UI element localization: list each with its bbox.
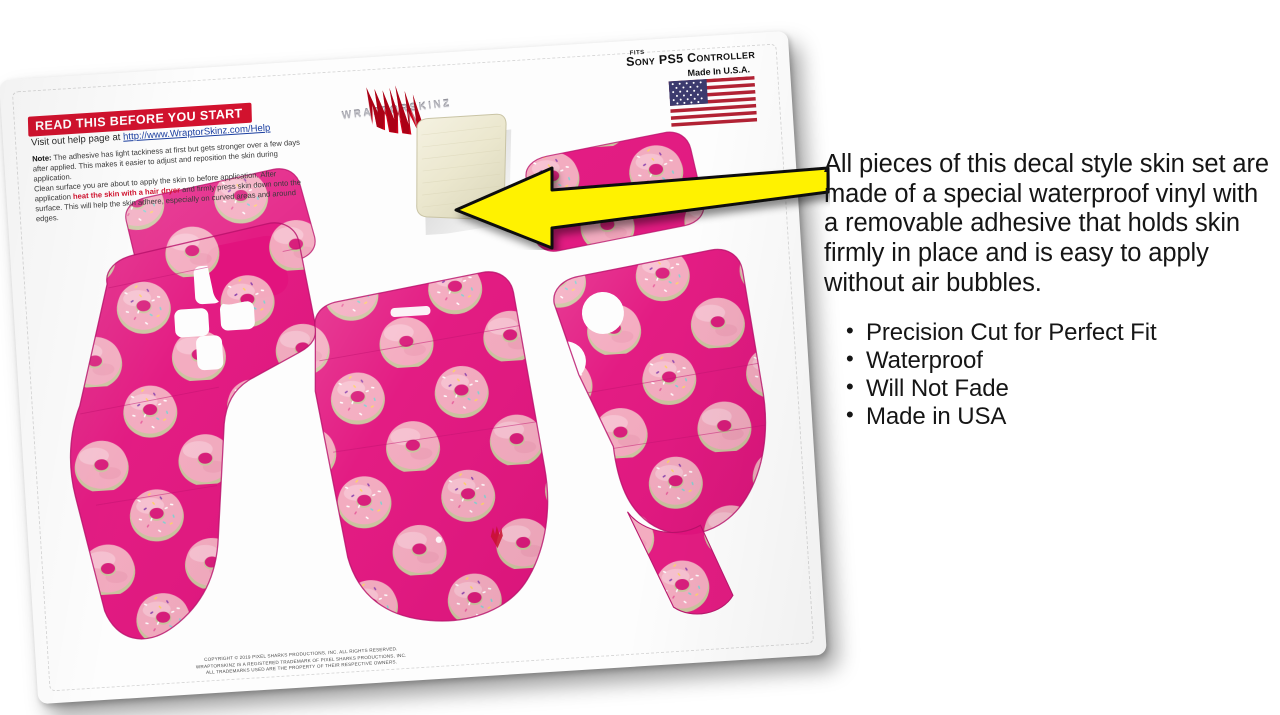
feature-bullet: Waterproof <box>846 347 1270 375</box>
sheet-paper: READ THIS BEFORE YOU START Visit out hel… <box>0 31 827 704</box>
usa-flag-icon <box>669 76 758 127</box>
decal-sheet: READ THIS BEFORE YOU START Visit out hel… <box>0 31 827 704</box>
marketing-paragraph: All pieces of this decal style skin set … <box>824 150 1270 299</box>
skin-piece-right-grip <box>530 221 811 577</box>
feature-bullet: Made in USA <box>846 403 1270 431</box>
feature-bullet: Will Not Fade <box>846 375 1270 403</box>
feature-bullet-list: Precision Cut for Perfect Fit Waterproof… <box>846 319 1270 432</box>
note-lead-label: Note: <box>32 153 52 163</box>
peel-corner-arrow <box>440 140 830 250</box>
feature-bullet: Precision Cut for Perfect Fit <box>846 319 1270 347</box>
fits-model-block: FITS Sony PS5 Controller Made In U.S.A. <box>582 31 768 133</box>
product-photo: READ THIS BEFORE YOU START Visit out hel… <box>0 0 1280 715</box>
marketing-copy: All pieces of this decal style skin set … <box>824 150 1270 432</box>
